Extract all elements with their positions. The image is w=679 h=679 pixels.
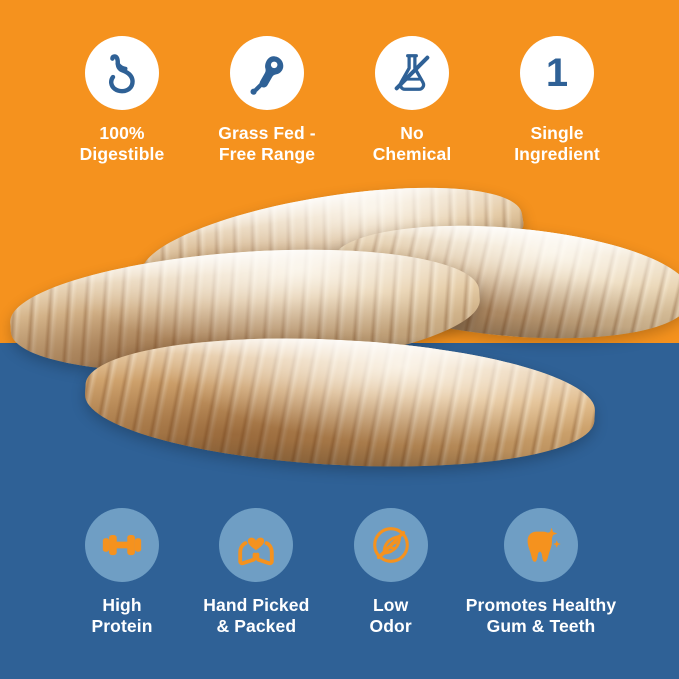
- feature-label: No Chemical: [373, 123, 452, 164]
- feature-hand-picked: Hand Picked & Packed: [192, 508, 320, 636]
- no-odor-leaf-icon: [354, 508, 428, 582]
- feature-high-protein: High Protein: [58, 508, 186, 636]
- bottom-feature-row: High Protein Hand Picked & Packed: [0, 508, 679, 636]
- stomach-icon: [85, 36, 159, 110]
- feature-no-chemical: No Chemical: [348, 36, 476, 164]
- product-infographic: 100% Digestible Grass Fed - Free Range: [0, 0, 679, 679]
- no-chemical-flask-icon: [375, 36, 449, 110]
- feature-single-ingredient: 1 Single Ingredient: [493, 36, 621, 164]
- badge-number: 1: [546, 53, 568, 93]
- chew-piece-front: [82, 327, 598, 479]
- feature-label: Single Ingredient: [514, 123, 600, 164]
- feature-label: Low Odor: [370, 595, 412, 636]
- feature-label: Hand Picked & Packed: [203, 595, 309, 636]
- feature-label: High Protein: [92, 595, 153, 636]
- feature-label: Promotes Healthy Gum & Teeth: [436, 595, 646, 636]
- sparkle-tooth-icon: [504, 508, 578, 582]
- feature-healthy-gums: Promotes Healthy Gum & Teeth: [461, 508, 621, 636]
- number-one-icon: 1: [520, 36, 594, 110]
- feature-label: Grass Fed - Free Range: [218, 123, 315, 164]
- meat-cut-icon: [230, 36, 304, 110]
- chew-gloss: [82, 327, 598, 479]
- product-photo: [0, 190, 679, 510]
- top-feature-row: 100% Digestible Grass Fed - Free Range: [0, 36, 679, 164]
- dumbbell-icon: [85, 508, 159, 582]
- feature-label: 100% Digestible: [80, 123, 165, 164]
- feature-grass-fed: Grass Fed - Free Range: [203, 36, 331, 164]
- hands-heart-icon: [219, 508, 293, 582]
- feature-digestible: 100% Digestible: [58, 36, 186, 164]
